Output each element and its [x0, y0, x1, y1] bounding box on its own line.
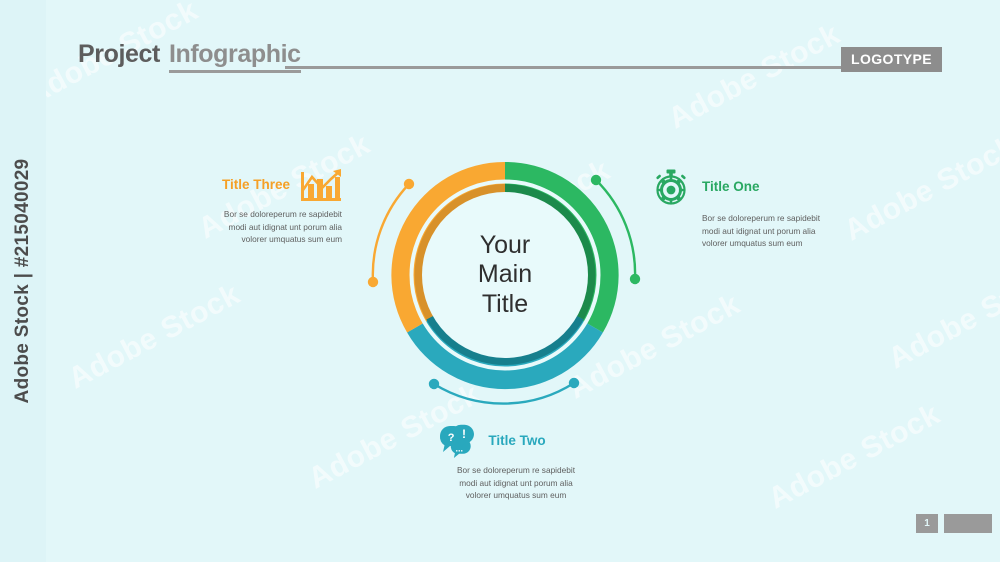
callout-title-one[interactable]: Title One Bor se doloreperum re sapidebi…: [652, 168, 864, 250]
slide-canvas: Adobe Stock Adobe Stock Adobe Stock Adob…: [0, 0, 1000, 562]
svg-text:!: !: [462, 427, 466, 441]
callout-two-head: ? ! ... Title Two: [382, 424, 602, 458]
speech-bubbles-icon: ? ! ...: [438, 424, 476, 458]
donut-center-hole: [422, 192, 588, 358]
page-title: Project Infographic: [78, 40, 301, 73]
callout-three-head: Title Three: [130, 168, 342, 202]
donut-chart: Your Main Title: [360, 140, 650, 410]
callout-title-three[interactable]: Title Three Bor se doloreperum re sap: [130, 168, 342, 246]
header-divider: [285, 66, 845, 69]
page-number-badge: 1: [916, 514, 938, 533]
callout-one-body: Bor se doloreperum re sapidebit modi aut…: [702, 212, 864, 250]
bar-chart-growth-icon: [300, 168, 342, 202]
callout-two-title: Title Two: [488, 434, 545, 448]
callout-one-head: Title One: [652, 168, 864, 206]
stock-credit-label: Adobe Stock | #215040029: [12, 159, 34, 404]
stock-credit-strip: Adobe Stock | #215040029: [0, 0, 46, 562]
svg-text:?: ?: [448, 432, 455, 444]
callout-three-body: Bor se doloreperum re sapidebit modi aut…: [130, 208, 342, 246]
callout-title-two[interactable]: ? ! ... Title Two Bor se doloreperum re …: [382, 424, 602, 502]
watermark-text: Adobe Stock: [763, 398, 946, 517]
callout-three-title: Title Three: [222, 178, 290, 192]
slide-header: Project Infographic LOGOTYPE: [78, 40, 942, 80]
callout-one-title: Title One: [702, 180, 760, 194]
page-title-secondary: Infographic: [169, 40, 301, 73]
stopwatch-gear-icon: [652, 168, 690, 206]
callout-two-body: Bor se doloreperum re sapidebit modi aut…: [430, 464, 602, 502]
footer-bar: [944, 514, 992, 533]
connector-dot-one-start: [591, 175, 601, 185]
connector-dot-two-end: [569, 378, 579, 388]
watermark-text: Adobe Stock: [883, 258, 1000, 377]
connector-dot-three-end: [404, 179, 414, 189]
watermark-text: Adobe Stock: [63, 278, 246, 397]
connector-dot-one-end: [630, 274, 640, 284]
donut-chart-svg: [360, 140, 650, 410]
page-title-primary: Project: [78, 40, 160, 69]
connector-dot-three-start: [368, 277, 378, 287]
connector-dot-two-start: [429, 379, 439, 389]
logotype-badge: LOGOTYPE: [841, 47, 942, 72]
